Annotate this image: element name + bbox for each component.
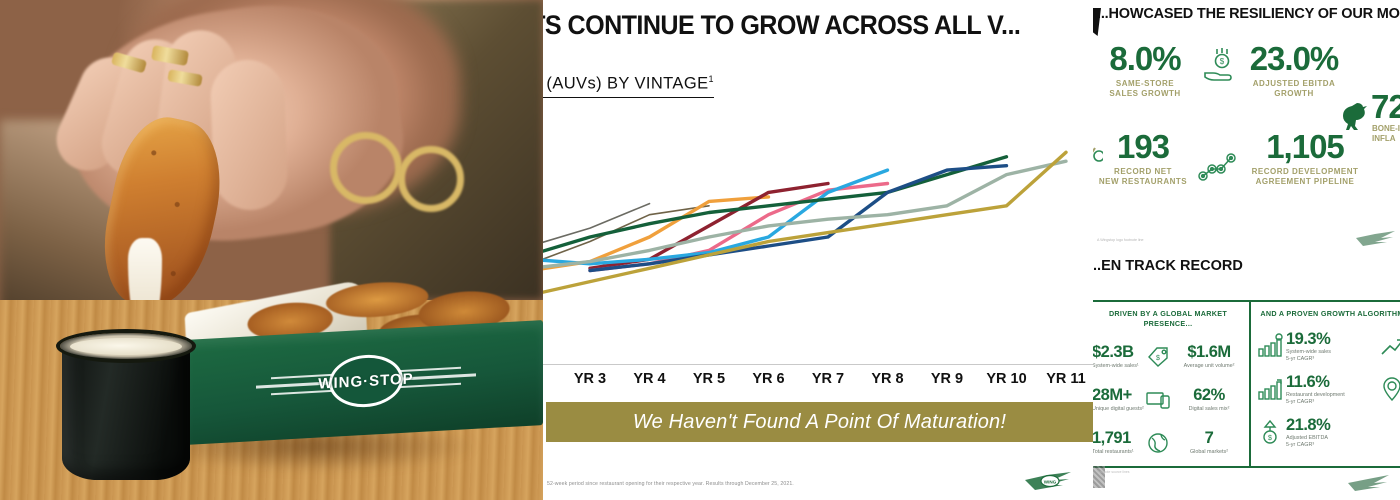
auv-vintage-line-chart: [543, 118, 1093, 363]
kpi-value: 193: [1093, 130, 1199, 163]
wingstop-logo-on-box: WING·STOP: [256, 346, 476, 416]
kpi-cut-label: BONE-IINFLA: [1372, 124, 1400, 144]
x-label-yr-8: YR 8: [871, 371, 903, 387]
track-column-global-presence: DRIVEN BY A GLOBAL MARKET PRESENCE... $2…: [1093, 302, 1249, 466]
stat-label: Restaurant development5-yr CAGR³: [1286, 392, 1378, 406]
slide-title: ...AURANTS CONTINUE TO GROW ACROSS ALL V…: [543, 10, 1074, 41]
chart-x-axis-labels: ⋮YR 3YR 4YR 5YR 6YR 7YR 8YR 9YR 10YR 11: [543, 368, 1093, 394]
photo-thumb: [209, 59, 288, 211]
x-label-yr-9: YR 9: [931, 371, 963, 387]
stat-value: 28M+: [1093, 387, 1144, 404]
wingstop-wing-logo-icon: [1347, 472, 1391, 494]
chart-line-vintage-a-gray: [543, 204, 650, 246]
stat-value: 19.3%: [1286, 331, 1378, 348]
subtitle-footnote-marker: 1: [708, 74, 713, 84]
location-pin-icon: [1378, 376, 1400, 404]
bar-chart-up-icon: [1256, 333, 1286, 361]
kpi-value: 23.0%: [1239, 42, 1349, 75]
photo-ranch-sauce: [70, 338, 182, 355]
x-label-yr-3: YR 3: [574, 371, 606, 387]
column-heading: DRIVEN BY A GLOBAL MARKET PRESENCE...: [1093, 309, 1244, 328]
slide-deck-screenshot: WING·STOP ...AURANTS CONTINUE TO GROW AC…: [0, 0, 1400, 500]
stat-label: System-wide sales¹: [1093, 363, 1144, 370]
price-tag-icon: $: [1144, 343, 1174, 371]
kpi-cut-value: 72: [1371, 88, 1400, 126]
slide-subtitle: ...VOLUMES (AUVs) BY VINTAGE1: [543, 74, 714, 98]
svg-text:$: $: [1268, 435, 1272, 442]
stat-value: $1.6M: [1174, 344, 1244, 361]
x-label-yr-5: YR 5: [693, 371, 725, 387]
resiliency-title: ...HOWCASED THE RESILIENCY OF OUR MODEL: [1097, 6, 1400, 22]
svg-text:WING: WING: [1044, 479, 1057, 484]
stat-value: 21.8%: [1286, 417, 1400, 434]
wingstop-wing-logo-icon: WING: [1023, 466, 1073, 496]
kpi-label: RECORD DEVELOPMENTAGREEMENT PIPELINE: [1239, 167, 1371, 187]
network-nodes-icon: [1197, 150, 1239, 184]
stat-row: $2.3B System-wide sales¹ $ $1.6M Average…: [1093, 335, 1244, 378]
kpi-record-development-pipeline: 1,105 RECORD DEVELOPMENTAGREEMENT PIPELI…: [1239, 130, 1371, 187]
arrow-up-right-icon: [1378, 333, 1400, 361]
kpi-adjusted-ebitda-growth: 23.0% ADJUSTED EBITDAGROWTH: [1239, 42, 1349, 99]
x-label-yr-6: YR 6: [752, 371, 784, 387]
stat-value: 62%: [1174, 387, 1244, 404]
x-label-yr-4: YR 4: [633, 371, 665, 387]
partial-leaf-icon: [1093, 140, 1103, 170]
kpi-value: 8.0%: [1095, 42, 1195, 75]
stat-label: Digital sales mix²: [1174, 406, 1244, 413]
track-record-title: ...EN TRACK RECORD: [1093, 258, 1243, 274]
x-label-yr-7: YR 7: [812, 371, 844, 387]
devices-icon: [1144, 386, 1174, 414]
stat-row: 1,791 Total restaurants¹ 7 Global market…: [1093, 421, 1244, 464]
bar-chart-icon: [1256, 376, 1286, 404]
chart-x-axis-line: [543, 364, 1093, 365]
kpi-label: SAME-STORESALES GROWTH: [1095, 79, 1195, 99]
chart-svg: [543, 118, 1093, 363]
chart-slide: ...AURANTS CONTINUE TO GROW ACROSS ALL V…: [543, 0, 1093, 500]
kpi-record-net-new-restaurants: 193 RECORD NETNEW RESTAURANTS: [1093, 130, 1199, 187]
x-label-cut: ⋮: [543, 371, 546, 387]
kpi-value: 1,105: [1239, 130, 1371, 163]
photo-bangle: [398, 146, 464, 212]
hero-food-photo: WING·STOP: [0, 0, 543, 500]
kpi-label: RECORD NETNEW RESTAURANTS: [1093, 167, 1199, 187]
stat-value: 7: [1174, 430, 1244, 447]
resiliency-kpi-section: ...HOWCASED THE RESILIENCY OF OUR MODEL …: [1093, 0, 1400, 250]
stat-row: 11.6% Restaurant development5-yr CAGR³: [1256, 369, 1400, 412]
column-heading: AND A PROVEN GROWTH ALGORITHM: [1256, 309, 1400, 319]
stat-value: 1,791: [1093, 430, 1144, 447]
wingstop-wing-logo-icon: [1355, 228, 1397, 248]
svg-text:$: $: [1220, 57, 1225, 66]
stat-label: System-wide sales5-yr CAGR³: [1286, 349, 1378, 363]
x-label-yr-11: YR 11: [1046, 371, 1086, 387]
photo-ranch-cup: [62, 340, 190, 480]
coin-up-icon: $: [1256, 419, 1286, 447]
globe-icon: [1144, 429, 1174, 457]
stat-label: Average unit volume²: [1174, 363, 1244, 370]
slide-subtitle-text: ...VOLUMES (AUVs) BY VINTAGE: [543, 75, 708, 93]
stat-label: Adjusted EBITDA5-yr CAGR³: [1286, 435, 1400, 449]
kpi-same-store-sales: 8.0% SAME-STORESALES GROWTH: [1095, 42, 1195, 99]
photo-bangle: [330, 132, 402, 204]
stat-value: 11.6%: [1286, 374, 1378, 391]
stat-value: $2.3B: [1093, 344, 1144, 361]
metrics-slide-panel: ...HOWCASED THE RESILIENCY OF OUR MODEL …: [1093, 0, 1400, 500]
stat-row: $ 21.8% Adjusted EBITDA5-yr CAGR³: [1256, 412, 1400, 455]
chicken-icon: [1340, 100, 1370, 134]
stat-label: Global markets²: [1174, 449, 1244, 456]
stat-label: Total restaurants¹: [1093, 449, 1144, 456]
stat-row: 19.3% System-wide sales5-yr CAGR³: [1256, 326, 1400, 369]
kpi-label: ADJUSTED EBITDAGROWTH: [1239, 79, 1349, 99]
stat-label: Unique digital guests²: [1093, 406, 1144, 413]
svg-text:$: $: [1156, 355, 1160, 362]
slide-footnote: 52-week period since restaurant opening …: [547, 481, 967, 487]
stat-row: 28M+ Unique digital guests² 62% Digital …: [1093, 378, 1244, 421]
hand-coin-icon: $: [1203, 46, 1239, 84]
maturation-banner-text: We Haven't Found A Point Of Maturation!: [633, 411, 1006, 434]
track-column-growth-algorithm: AND A PROVEN GROWTH ALGORITHM 19.3%: [1249, 302, 1400, 466]
x-label-yr-10: YR 10: [986, 371, 1026, 387]
chart-line-vintage-h-navy: [590, 166, 1007, 271]
maturation-banner: We Haven't Found A Point Of Maturation!: [546, 402, 1093, 442]
track-record-footnote: Footnote source lines: [1097, 470, 1247, 475]
chart-line-vintage-j-gold: [543, 152, 1066, 295]
track-record-panel: DRIVEN BY A GLOBAL MARKET PRESENCE... $2…: [1093, 300, 1400, 468]
resiliency-footnote: A Wingstop logo footnote line: [1097, 238, 1217, 243]
